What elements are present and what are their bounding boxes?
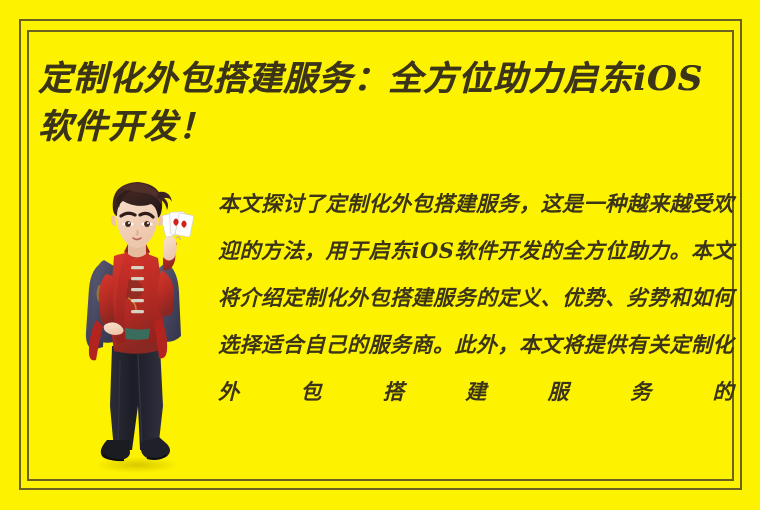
figure-right-hand bbox=[163, 236, 177, 261]
article-summary-text: 本文探讨了定制化外包搭建服务，这是一种越来越受欢迎的方法，用于启东iOS软件开发… bbox=[218, 180, 734, 415]
character-illustration-svg bbox=[62, 178, 212, 475]
character-illustration bbox=[62, 178, 212, 475]
figure-eye-glint-right bbox=[147, 222, 149, 224]
figure-ground-shadow bbox=[95, 457, 179, 473]
poster-canvas: 定制化外包搭建服务：全方位助力启东iOS软件开发！ 本文探讨了定制化外包搭建服务… bbox=[0, 0, 760, 510]
figure-iris-left bbox=[125, 221, 131, 227]
figure-eye-glint-left bbox=[128, 222, 130, 224]
page-title: 定制化外包搭建服务：全方位助力启东iOS软件开发！ bbox=[38, 55, 738, 152]
playing-cards bbox=[161, 212, 194, 238]
figure-iris-right bbox=[144, 221, 150, 227]
figure-ear-left bbox=[111, 216, 116, 227]
